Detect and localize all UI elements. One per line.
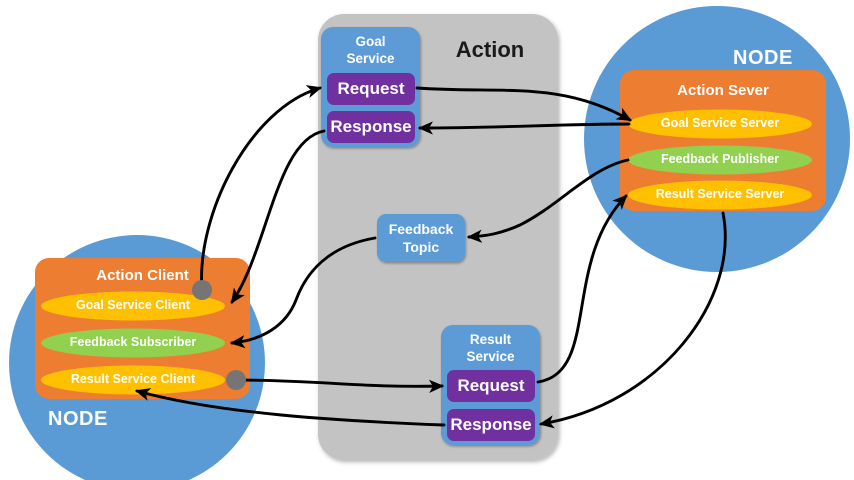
action-client-title: Action Client (35, 268, 250, 284)
goal-service-title-line1: Goal (321, 34, 420, 49)
diagram-canvas: Action NODE Action Sever Goal Service Se… (0, 0, 854, 480)
feedback-publisher-label[interactable]: Feedback Publisher (628, 153, 812, 167)
result-service-title-line1: Result (441, 332, 540, 347)
labels-layer: Action NODE Action Sever Goal Service Se… (0, 0, 854, 480)
feedback-subscriber-label[interactable]: Feedback Subscriber (41, 336, 225, 350)
result-service-title-line2: Service (441, 349, 540, 364)
goal-service-title-line2: Service (321, 51, 420, 66)
server-node-label: NODE (733, 48, 831, 70)
action-container-title: Action (430, 38, 550, 62)
result-service-request-label[interactable]: Request (447, 377, 535, 395)
result-service-client-label[interactable]: Result Service Client (41, 373, 225, 387)
client-node-label: NODE (48, 409, 146, 431)
result-service-response-label[interactable]: Response (447, 416, 535, 434)
feedback-topic-title-line1: Feedback (377, 221, 465, 238)
goal-service-client-label[interactable]: Goal Service Client (41, 299, 225, 313)
goal-service-response-label[interactable]: Response (327, 118, 415, 136)
goal-service-server-label[interactable]: Goal Service Server (628, 117, 812, 131)
goal-service-request-label[interactable]: Request (327, 80, 415, 98)
result-service-server-label[interactable]: Result Service Server (628, 188, 812, 202)
action-server-title: Action Sever (620, 83, 826, 99)
feedback-topic-title-line2: Topic (377, 239, 465, 256)
